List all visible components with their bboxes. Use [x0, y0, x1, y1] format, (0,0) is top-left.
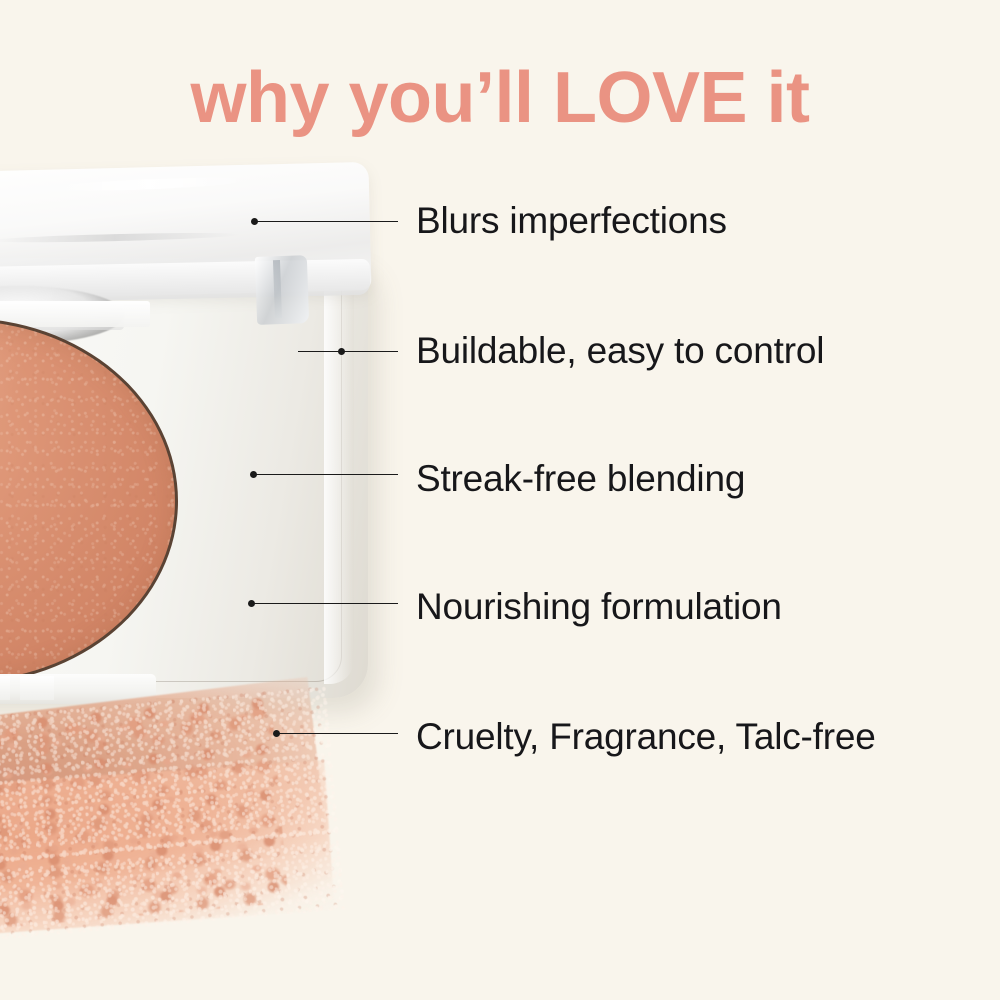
callout-line-5: [276, 733, 398, 734]
page-title: why you’ll LOVE it: [0, 62, 1000, 134]
feature-label-1: Blurs imperfections: [416, 200, 727, 242]
lid-highlight-top: [49, 175, 249, 193]
callout-line-3: [253, 474, 398, 475]
compact-base-notch-left: [0, 676, 10, 700]
callout-line-2: [298, 351, 398, 352]
callout-line-1: [254, 221, 398, 222]
feature-label-4: Nourishing formulation: [416, 586, 782, 628]
compact-base-notch-right: [20, 676, 54, 700]
feature-label-2: Buildable, easy to control: [416, 330, 824, 372]
lid-corner-refraction: [255, 255, 309, 325]
lid-highlight-lower: [0, 231, 240, 244]
product-photo-compact: HALEYS HALEYS: [0, 168, 380, 713]
powder-sheen: [0, 318, 27, 483]
swatch-shimmer-particles: [0, 685, 349, 956]
compact-body-gloss: [324, 268, 354, 684]
product-feature-infographic: why you’ll LOVE it HALEYS HALEYS: [0, 0, 1000, 1000]
callout-line-4: [251, 603, 398, 604]
powder-pan: [0, 318, 178, 684]
powder-swatch-smear: [0, 700, 360, 950]
feature-label-5: Cruelty, Fragrance, Talc-free: [416, 716, 876, 758]
feature-label-3: Streak-free blending: [416, 458, 745, 500]
